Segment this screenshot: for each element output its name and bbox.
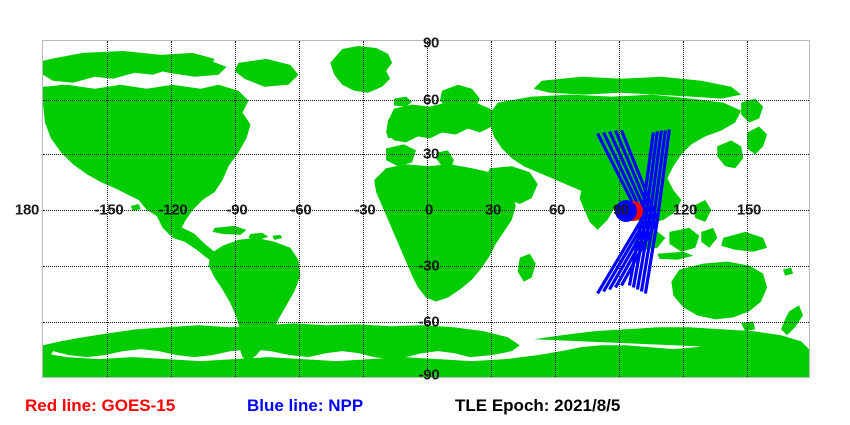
map-clip-region: [43, 41, 809, 377]
gridline-lon-minus150: [107, 41, 108, 377]
north-america-main-shape: [43, 85, 250, 236]
greenland-shape: [330, 46, 392, 93]
sumatra-shape: [633, 230, 665, 250]
canadian-arctic-shape: [151, 57, 227, 77]
gridline-lon-120: [683, 41, 684, 377]
legend-epoch-entry: TLE Epoch: 2021/8/5: [455, 397, 620, 414]
puerto-rico-shape: [272, 235, 282, 240]
madagascar-shape: [518, 254, 536, 282]
new-guinea-shape: [721, 232, 767, 252]
sulawesi-shape: [701, 228, 717, 248]
satellite-track-figure: 90 60 30 0 -30 -60 -90 -30 30 60 90 120 …: [0, 0, 850, 425]
kamchatka-shape: [741, 99, 763, 123]
legend-npp-entry: Blue line: NPP: [247, 397, 363, 414]
gridline-lat-60: [43, 100, 809, 101]
gridline-lat-minus30: [43, 266, 809, 267]
india-shape: [580, 186, 616, 230]
gridline-lat-0: [43, 210, 809, 211]
gridline-lon-30: [491, 41, 492, 377]
cuba-shape: [213, 226, 247, 235]
lon-label-180: 180: [15, 203, 39, 218]
gridline-lon-0: [427, 41, 428, 377]
australia-shape: [671, 262, 767, 320]
npp-marker[interactable]: [615, 200, 637, 222]
iberia-shape: [386, 144, 416, 166]
gridline-lon-minus30: [363, 41, 364, 377]
gridline-lon-minus120: [171, 41, 172, 377]
world-landmass-layer: [43, 41, 809, 377]
world-map-frame: 90 60 30 0 -30 -60 -90 -30 30 60 90 120 …: [42, 40, 810, 378]
gridline-lon-minus90: [235, 41, 236, 377]
legend-goes15-entry: Red line: GOES-15: [25, 397, 175, 414]
gridline-lon-60: [555, 41, 556, 377]
gridline-lon-minus60: [299, 41, 300, 377]
iceland-shape: [394, 97, 412, 107]
baffin-shape: [235, 59, 299, 87]
java-shape: [657, 252, 693, 260]
continents-group: [43, 46, 809, 377]
fiji-shape: [783, 268, 793, 276]
gridline-lat-30: [43, 154, 809, 155]
gridline-lon-150: [747, 41, 748, 377]
japan-shape: [747, 126, 767, 154]
borneo-shape: [669, 228, 699, 252]
figure-legend: Red line: GOES-15 Blue line: NPP TLE Epo…: [0, 392, 850, 422]
new-zealand-shape: [781, 305, 803, 335]
gridline-lat-minus60: [43, 322, 809, 323]
